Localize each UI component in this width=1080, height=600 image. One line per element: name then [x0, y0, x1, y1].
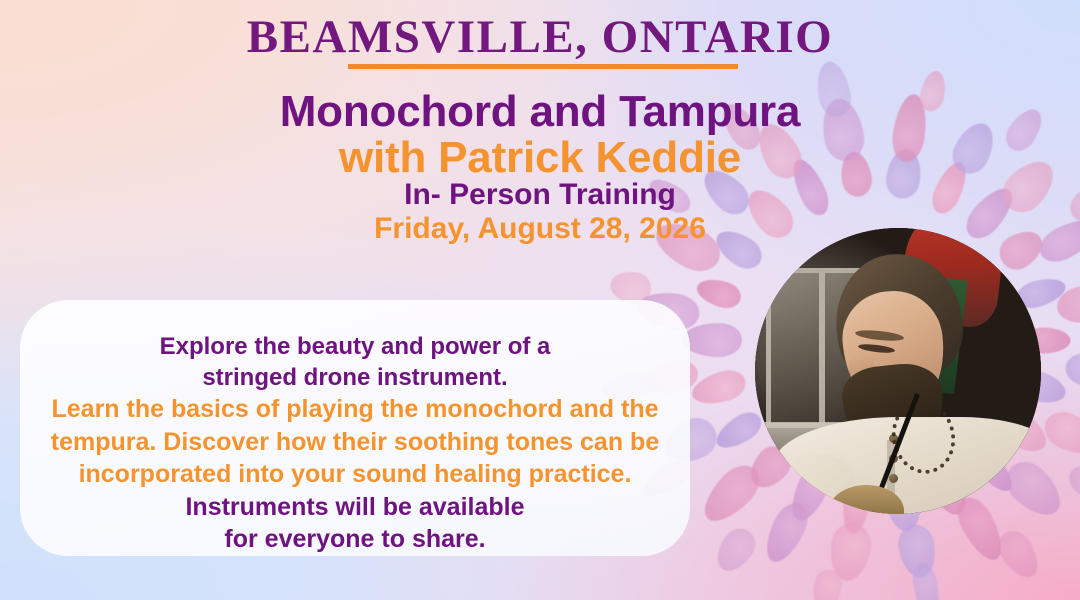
petal-shape: [809, 566, 845, 600]
portrait-patrick-keddie: [755, 228, 1041, 514]
description-line: incorporated into your sound healing pra…: [20, 458, 690, 491]
heading-course-title: Monochord and Tampura: [0, 90, 1080, 134]
title-underline-rule: [348, 64, 738, 69]
petal-shape: [1038, 405, 1080, 463]
petal-shape: [1063, 460, 1080, 509]
poster-canvas: BEAMSVILLE, ONTARIO Monochord and Tampur…: [0, 0, 1080, 600]
description-line: Learn the basics of playing the monochor…: [20, 393, 690, 426]
petal-shape: [682, 323, 742, 357]
heading-training-format: In- Person Training: [0, 180, 1080, 210]
petal-shape: [992, 524, 1047, 584]
petal-shape: [688, 365, 749, 409]
petal-shape: [1054, 279, 1080, 326]
petal-shape: [895, 521, 940, 579]
heading-event-date: Friday, August 28, 2026: [0, 214, 1080, 244]
description-line: stringed drone instrument.: [20, 362, 690, 393]
petal-shape: [694, 274, 745, 312]
petal-shape: [910, 561, 944, 600]
description-line: tempura. Discover how their soothing ton…: [20, 426, 690, 459]
description-line: for everyone to share.: [20, 523, 690, 556]
petal-shape: [1063, 350, 1080, 389]
heading-presenter-name: with Patrick Keddie: [0, 136, 1080, 180]
petal-shape: [826, 520, 874, 583]
description-card: Explore the beauty and power of a string…: [20, 300, 690, 556]
description-line: Explore the beauty and power of a: [20, 331, 690, 362]
description-line: Instruments will be available: [20, 491, 690, 524]
petal-shape: [709, 522, 761, 578]
city-title: BEAMSVILLE, ONTARIO: [0, 13, 1080, 62]
